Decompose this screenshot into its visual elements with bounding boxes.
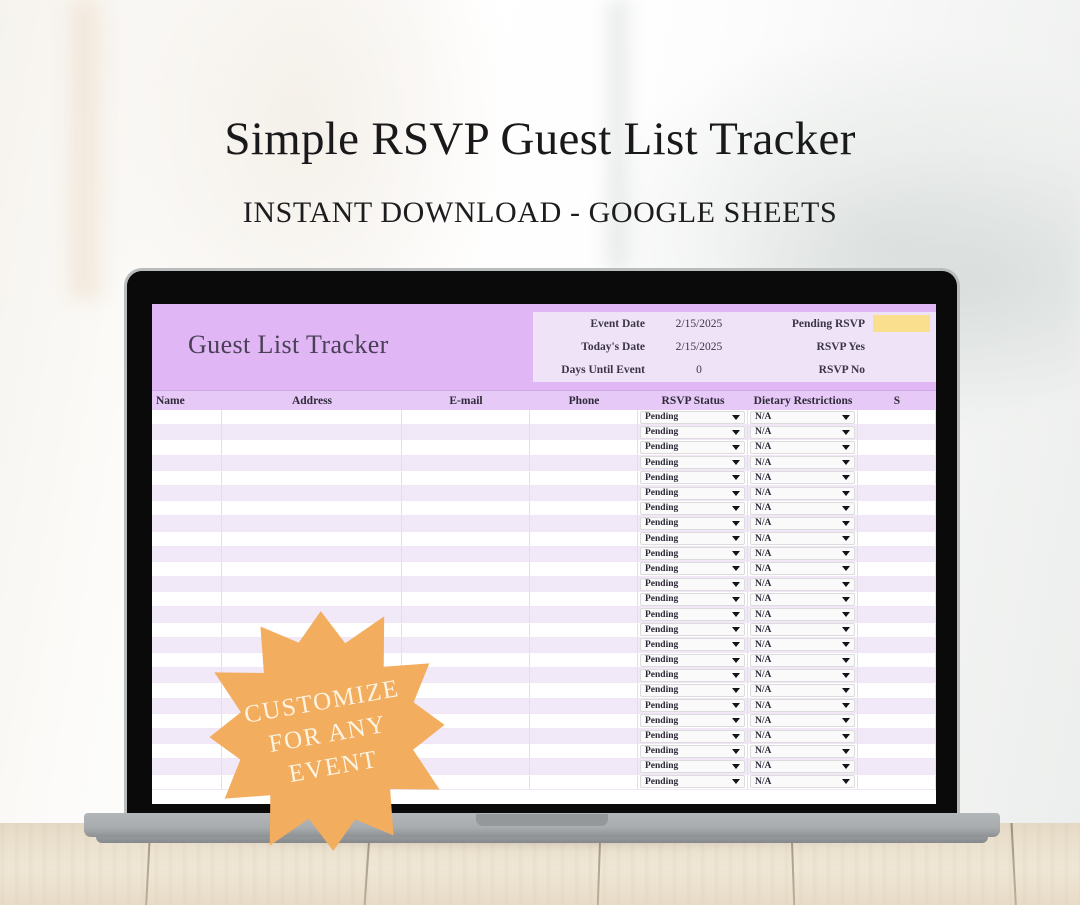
table-row[interactable]: PendingN/A: [152, 501, 936, 516]
cell-extra[interactable]: [858, 744, 936, 758]
cell-rsvp-status[interactable]: Pending: [638, 699, 748, 713]
cell-rsvp-status[interactable]: Pending: [638, 577, 748, 591]
cell-phone[interactable]: [530, 744, 638, 758]
cell-dietary[interactable]: N/A: [748, 577, 858, 591]
column-header-email[interactable]: E-mail: [402, 391, 530, 410]
cell-rsvp-status[interactable]: Pending: [638, 668, 748, 682]
cell-rsvp-status[interactable]: Pending: [638, 653, 748, 667]
pending-rsvp-value[interactable]: [873, 315, 930, 332]
table-row[interactable]: PendingN/A: [152, 592, 936, 607]
cell-extra[interactable]: [858, 471, 936, 485]
dietary-dropdown[interactable]: N/A: [750, 502, 855, 515]
cell-dietary[interactable]: N/A: [748, 744, 858, 758]
cell-address[interactable]: [222, 547, 402, 561]
chevron-down-icon: [732, 764, 740, 769]
chevron-down-icon: [732, 475, 740, 480]
rsvp-status-dropdown[interactable]: Pending: [640, 562, 745, 575]
cell-rsvp-status[interactable]: Pending: [638, 623, 748, 637]
cell-phone[interactable]: [530, 425, 638, 439]
rsvp-status-dropdown-value: Pending: [645, 579, 678, 589]
cell-address[interactable]: [222, 410, 402, 424]
chevron-down-icon: [732, 536, 740, 541]
cell-phone[interactable]: [530, 759, 638, 773]
rsvp-status-dropdown[interactable]: Pending: [640, 426, 745, 439]
todays-date-value[interactable]: 2/15/2025: [651, 341, 747, 353]
cell-dietary[interactable]: N/A: [748, 410, 858, 424]
table-row[interactable]: PendingN/A: [152, 425, 936, 440]
cell-dietary[interactable]: N/A: [748, 547, 858, 561]
chevron-down-icon: [842, 779, 850, 784]
rsvp-status-dropdown[interactable]: Pending: [640, 684, 745, 697]
cell-dietary[interactable]: N/A: [748, 638, 858, 652]
chevron-down-icon: [842, 688, 850, 693]
rsvp-status-dropdown[interactable]: Pending: [640, 517, 745, 530]
chevron-down-icon: [842, 566, 850, 571]
cell-name[interactable]: [152, 516, 222, 530]
dietary-dropdown-value: N/A: [755, 442, 771, 452]
cell-rsvp-status[interactable]: Pending: [638, 775, 748, 789]
chevron-down-icon: [732, 551, 740, 556]
rsvp-status-dropdown-value: Pending: [645, 427, 678, 437]
cell-rsvp-status[interactable]: Pending: [638, 516, 748, 530]
chevron-down-icon: [842, 521, 850, 526]
cell-extra[interactable]: [858, 410, 936, 424]
table-row[interactable]: PendingN/A: [152, 456, 936, 471]
rsvp-status-dropdown[interactable]: Pending: [640, 411, 745, 424]
dietary-dropdown[interactable]: N/A: [750, 684, 855, 697]
dietary-dropdown-value: N/A: [755, 503, 771, 513]
days-until-event-value[interactable]: 0: [651, 364, 747, 376]
dietary-dropdown[interactable]: N/A: [750, 593, 855, 606]
cell-name[interactable]: [152, 562, 222, 576]
pending-rsvp-label: Pending RSVP: [761, 318, 873, 330]
cell-rsvp-status[interactable]: Pending: [638, 440, 748, 454]
rsvp-status-dropdown[interactable]: Pending: [640, 502, 745, 515]
cell-phone[interactable]: [530, 471, 638, 485]
cell-name[interactable]: [152, 425, 222, 439]
table-header-row: Name Address E-mail Phone RSVP Status Di…: [152, 390, 936, 410]
cell-dietary[interactable]: N/A: [748, 653, 858, 667]
rsvp-status-dropdown[interactable]: Pending: [640, 456, 745, 469]
dietary-dropdown[interactable]: N/A: [750, 760, 855, 773]
cell-phone[interactable]: [530, 532, 638, 546]
cell-rsvp-status[interactable]: Pending: [638, 714, 748, 728]
cell-email[interactable]: [402, 440, 530, 454]
cell-email[interactable]: [402, 425, 530, 439]
rsvp-yes-value[interactable]: [873, 338, 930, 355]
table-row[interactable]: PendingN/A: [152, 562, 936, 577]
dietary-dropdown[interactable]: N/A: [750, 730, 855, 743]
table-row[interactable]: PendingN/A: [152, 440, 936, 455]
chevron-down-icon: [842, 597, 850, 602]
chevron-down-icon: [732, 627, 740, 632]
cell-rsvp-status[interactable]: Pending: [638, 592, 748, 606]
rsvp-yes-label: RSVP Yes: [761, 341, 873, 353]
cell-dietary[interactable]: N/A: [748, 471, 858, 485]
rsvp-status-dropdown-value: Pending: [645, 716, 678, 726]
dietary-dropdown[interactable]: N/A: [750, 623, 855, 636]
chevron-down-icon: [732, 703, 740, 708]
cell-extra[interactable]: [858, 714, 936, 728]
cell-dietary[interactable]: N/A: [748, 562, 858, 576]
dietary-dropdown-value: N/A: [755, 701, 771, 711]
cell-dietary[interactable]: N/A: [748, 668, 858, 682]
cell-email[interactable]: [402, 486, 530, 500]
rsvp-status-dropdown[interactable]: Pending: [640, 775, 745, 788]
rsvp-status-dropdown-value: Pending: [645, 518, 678, 528]
cell-extra[interactable]: [858, 623, 936, 637]
chevron-down-icon: [842, 460, 850, 465]
chevron-down-icon: [842, 415, 850, 420]
cell-address[interactable]: [222, 532, 402, 546]
laptop-base-notch: [476, 814, 608, 826]
rsvp-status-dropdown-value: Pending: [645, 761, 678, 771]
cell-name[interactable]: [152, 410, 222, 424]
cell-phone[interactable]: [530, 729, 638, 743]
dietary-dropdown[interactable]: N/A: [750, 775, 855, 788]
dietary-dropdown[interactable]: N/A: [750, 669, 855, 682]
cell-name[interactable]: [152, 714, 222, 728]
cell-dietary[interactable]: N/A: [748, 729, 858, 743]
cell-extra[interactable]: [858, 592, 936, 606]
cell-address[interactable]: [222, 456, 402, 470]
cell-name[interactable]: [152, 775, 222, 789]
cell-extra[interactable]: [858, 532, 936, 546]
spreadsheet-title: Guest List Tracker: [188, 330, 389, 360]
rsvp-status-dropdown-value: Pending: [645, 655, 678, 665]
column-header-dietary-restrictions[interactable]: Dietary Restrictions: [748, 391, 858, 410]
chevron-down-icon: [842, 551, 850, 556]
cell-rsvp-status[interactable]: Pending: [638, 471, 748, 485]
rsvp-status-dropdown[interactable]: Pending: [640, 593, 745, 606]
dietary-dropdown-value: N/A: [755, 610, 771, 620]
cell-rsvp-status[interactable]: Pending: [638, 486, 748, 500]
cell-phone[interactable]: [530, 683, 638, 697]
cell-extra[interactable]: [858, 729, 936, 743]
cell-dietary[interactable]: N/A: [748, 486, 858, 500]
dietary-dropdown-value: N/A: [755, 761, 771, 771]
cell-phone[interactable]: [530, 623, 638, 637]
chevron-down-icon: [732, 582, 740, 587]
rsvp-status-dropdown-value: Pending: [645, 488, 678, 498]
days-until-event-label: Days Until Event: [533, 364, 651, 376]
cell-email[interactable]: [402, 577, 530, 591]
chevron-down-icon: [842, 749, 850, 754]
cell-email[interactable]: [402, 410, 530, 424]
rsvp-status-dropdown[interactable]: Pending: [640, 623, 745, 636]
chevron-down-icon: [732, 521, 740, 526]
cell-phone[interactable]: [530, 714, 638, 728]
column-header-phone[interactable]: Phone: [530, 391, 638, 410]
dietary-dropdown-value: N/A: [755, 777, 771, 787]
rsvp-status-dropdown[interactable]: Pending: [640, 654, 745, 667]
rsvp-status-dropdown[interactable]: Pending: [640, 760, 745, 773]
dietary-dropdown[interactable]: N/A: [750, 547, 855, 560]
cell-rsvp-status[interactable]: Pending: [638, 729, 748, 743]
table-row[interactable]: PendingN/A: [152, 547, 936, 562]
chevron-down-icon: [732, 491, 740, 496]
chevron-down-icon: [842, 582, 850, 587]
cell-name[interactable]: [152, 501, 222, 515]
dietary-dropdown[interactable]: N/A: [750, 441, 855, 454]
cell-extra[interactable]: [858, 683, 936, 697]
cell-dietary[interactable]: N/A: [748, 759, 858, 773]
cell-phone[interactable]: [530, 547, 638, 561]
cell-phone[interactable]: [530, 562, 638, 576]
chevron-down-icon: [732, 445, 740, 450]
dietary-dropdown-value: N/A: [755, 549, 771, 559]
rsvp-status-dropdown[interactable]: Pending: [640, 699, 745, 712]
rsvp-status-dropdown-value: Pending: [645, 564, 678, 574]
customize-badge: CUSTOMIZE FOR ANY EVENT: [212, 600, 443, 861]
rsvp-status-dropdown[interactable]: Pending: [640, 441, 745, 454]
rsvp-status-dropdown[interactable]: Pending: [640, 471, 745, 484]
cell-extra[interactable]: [858, 425, 936, 439]
cell-dietary[interactable]: N/A: [748, 440, 858, 454]
table-row[interactable]: PendingN/A: [152, 486, 936, 501]
rsvp-status-dropdown[interactable]: Pending: [640, 547, 745, 560]
rsvp-status-dropdown-value: Pending: [645, 549, 678, 559]
cell-phone[interactable]: [530, 456, 638, 470]
cell-phone[interactable]: [530, 440, 638, 454]
dietary-dropdown[interactable]: N/A: [750, 562, 855, 575]
chevron-down-icon: [842, 764, 850, 769]
cell-rsvp-status[interactable]: Pending: [638, 607, 748, 621]
page-subtitle: INSTANT DOWNLOAD - GOOGLE SHEETS: [0, 196, 1080, 230]
cell-extra[interactable]: [858, 547, 936, 561]
cell-dietary[interactable]: N/A: [748, 699, 858, 713]
cell-phone[interactable]: [530, 653, 638, 667]
cell-phone[interactable]: [530, 668, 638, 682]
cell-extra[interactable]: [858, 440, 936, 454]
cell-phone[interactable]: [530, 775, 638, 789]
cell-address[interactable]: [222, 440, 402, 454]
cell-phone[interactable]: [530, 638, 638, 652]
rsvp-status-dropdown-value: Pending: [645, 594, 678, 604]
chevron-down-icon: [732, 460, 740, 465]
event-info-panel: Event Date 2/15/2025 Pending RSVP Today'…: [533, 312, 936, 382]
cell-email[interactable]: [402, 501, 530, 515]
chevron-down-icon: [732, 673, 740, 678]
cell-dietary[interactable]: N/A: [748, 456, 858, 470]
table-row[interactable]: PendingN/A: [152, 516, 936, 531]
dietary-dropdown-value: N/A: [755, 685, 771, 695]
cell-extra[interactable]: [858, 501, 936, 515]
rsvp-status-dropdown-value: Pending: [645, 442, 678, 452]
dietary-dropdown[interactable]: N/A: [750, 699, 855, 712]
dietary-dropdown[interactable]: N/A: [750, 487, 855, 500]
dietary-dropdown[interactable]: N/A: [750, 411, 855, 424]
cell-dietary[interactable]: N/A: [748, 516, 858, 530]
cell-name[interactable]: [152, 471, 222, 485]
cell-extra[interactable]: [858, 456, 936, 470]
rsvp-status-dropdown-value: Pending: [645, 746, 678, 756]
chevron-down-icon: [842, 475, 850, 480]
dietary-dropdown-value: N/A: [755, 746, 771, 756]
cell-rsvp-status[interactable]: Pending: [638, 532, 748, 546]
table-row[interactable]: PendingN/A: [152, 577, 936, 592]
column-header-rsvp-status[interactable]: RSVP Status: [638, 391, 748, 410]
cell-dietary[interactable]: N/A: [748, 714, 858, 728]
chevron-down-icon: [842, 536, 850, 541]
cell-dietary[interactable]: N/A: [748, 425, 858, 439]
customize-badge-text: CUSTOMIZE FOR ANY EVENT: [198, 589, 456, 873]
cell-extra[interactable]: [858, 516, 936, 530]
dietary-dropdown-value: N/A: [755, 458, 771, 468]
cell-dietary[interactable]: N/A: [748, 592, 858, 606]
dietary-dropdown[interactable]: N/A: [750, 426, 855, 439]
cell-name[interactable]: [152, 456, 222, 470]
rsvp-status-dropdown[interactable]: Pending: [640, 608, 745, 621]
rsvp-status-dropdown[interactable]: Pending: [640, 745, 745, 758]
cell-address[interactable]: [222, 486, 402, 500]
rsvp-status-dropdown-value: Pending: [645, 731, 678, 741]
todays-date-label: Today's Date: [533, 341, 651, 353]
cell-address[interactable]: [222, 562, 402, 576]
chevron-down-icon: [732, 430, 740, 435]
cell-dietary[interactable]: N/A: [748, 532, 858, 546]
table-row[interactable]: PendingN/A: [152, 471, 936, 486]
cell-phone[interactable]: [530, 516, 638, 530]
chevron-down-icon: [842, 506, 850, 511]
cell-extra[interactable]: [858, 653, 936, 667]
dietary-dropdown[interactable]: N/A: [750, 714, 855, 727]
cell-phone[interactable]: [530, 577, 638, 591]
cell-extra[interactable]: [858, 759, 936, 773]
rsvp-status-dropdown-value: Pending: [645, 534, 678, 544]
cell-extra[interactable]: [858, 775, 936, 789]
cell-rsvp-status[interactable]: Pending: [638, 562, 748, 576]
cell-dietary[interactable]: N/A: [748, 775, 858, 789]
dietary-dropdown[interactable]: N/A: [750, 471, 855, 484]
cell-rsvp-status[interactable]: Pending: [638, 425, 748, 439]
dietary-dropdown-value: N/A: [755, 670, 771, 680]
chevron-down-icon: [732, 415, 740, 420]
dietary-dropdown[interactable]: N/A: [750, 608, 855, 621]
rsvp-status-dropdown[interactable]: Pending: [640, 487, 745, 500]
dietary-dropdown[interactable]: N/A: [750, 517, 855, 530]
chevron-down-icon: [842, 658, 850, 663]
dietary-dropdown-value: N/A: [755, 716, 771, 726]
cell-email[interactable]: [402, 562, 530, 576]
dietary-dropdown[interactable]: N/A: [750, 578, 855, 591]
cell-email[interactable]: [402, 516, 530, 530]
event-date-value[interactable]: 2/15/2025: [651, 318, 747, 330]
rsvp-status-dropdown-value: Pending: [645, 670, 678, 680]
cell-phone[interactable]: [530, 486, 638, 500]
chevron-down-icon: [732, 779, 740, 784]
chevron-down-icon: [732, 658, 740, 663]
rsvp-status-dropdown[interactable]: Pending: [640, 714, 745, 727]
dietary-dropdown-value: N/A: [755, 731, 771, 741]
cell-name[interactable]: [152, 759, 222, 773]
cell-email[interactable]: [402, 471, 530, 485]
column-header-name[interactable]: Name: [152, 391, 222, 410]
dietary-dropdown[interactable]: N/A: [750, 532, 855, 545]
cell-phone[interactable]: [530, 592, 638, 606]
cell-phone[interactable]: [530, 501, 638, 515]
cell-rsvp-status[interactable]: Pending: [638, 638, 748, 652]
chevron-down-icon: [842, 491, 850, 496]
cell-name[interactable]: [152, 592, 222, 606]
rsvp-status-dropdown-value: Pending: [645, 503, 678, 513]
cell-dietary[interactable]: N/A: [748, 683, 858, 697]
cell-phone[interactable]: [530, 699, 638, 713]
cell-phone[interactable]: [530, 410, 638, 424]
cell-rsvp-status[interactable]: Pending: [638, 759, 748, 773]
rsvp-status-dropdown[interactable]: Pending: [640, 532, 745, 545]
cell-name[interactable]: [152, 486, 222, 500]
rsvp-status-dropdown[interactable]: Pending: [640, 638, 745, 651]
cell-extra[interactable]: [858, 562, 936, 576]
cell-address[interactable]: [222, 425, 402, 439]
cell-address[interactable]: [222, 577, 402, 591]
rsvp-status-dropdown-value: Pending: [645, 458, 678, 468]
cell-email[interactable]: [402, 532, 530, 546]
cell-name[interactable]: [152, 440, 222, 454]
chevron-down-icon: [732, 642, 740, 647]
rsvp-status-dropdown[interactable]: Pending: [640, 730, 745, 743]
dietary-dropdown[interactable]: N/A: [750, 456, 855, 469]
chevron-down-icon: [842, 718, 850, 723]
rsvp-status-dropdown[interactable]: Pending: [640, 669, 745, 682]
column-header-extra[interactable]: S: [858, 391, 936, 410]
cell-name[interactable]: [152, 547, 222, 561]
cell-extra[interactable]: [858, 638, 936, 652]
cell-extra[interactable]: [858, 486, 936, 500]
cell-rsvp-status[interactable]: Pending: [638, 547, 748, 561]
cell-dietary[interactable]: N/A: [748, 607, 858, 621]
rsvp-no-value[interactable]: [873, 362, 930, 379]
cell-extra[interactable]: [858, 607, 936, 621]
cell-name[interactable]: [152, 744, 222, 758]
table-row[interactable]: PendingN/A: [152, 410, 936, 425]
rsvp-status-dropdown-value: Pending: [645, 701, 678, 711]
cell-email[interactable]: [402, 456, 530, 470]
cell-extra[interactable]: [858, 577, 936, 591]
cell-dietary[interactable]: N/A: [748, 501, 858, 515]
cell-dietary[interactable]: N/A: [748, 623, 858, 637]
cell-rsvp-status[interactable]: Pending: [638, 456, 748, 470]
cell-address[interactable]: [222, 471, 402, 485]
dietary-dropdown-value: N/A: [755, 640, 771, 650]
chevron-down-icon: [732, 566, 740, 571]
rsvp-status-dropdown-value: Pending: [645, 610, 678, 620]
rsvp-no-label: RSVP No: [761, 364, 873, 376]
cell-email[interactable]: [402, 547, 530, 561]
cell-address[interactable]: [222, 501, 402, 515]
dietary-dropdown-value: N/A: [755, 488, 771, 498]
cell-name[interactable]: [152, 577, 222, 591]
dietary-dropdown[interactable]: N/A: [750, 638, 855, 651]
cell-rsvp-status[interactable]: Pending: [638, 744, 748, 758]
cell-rsvp-status[interactable]: Pending: [638, 683, 748, 697]
cell-rsvp-status[interactable]: Pending: [638, 410, 748, 424]
cell-extra[interactable]: [858, 668, 936, 682]
cell-phone[interactable]: [530, 607, 638, 621]
cell-address[interactable]: [222, 516, 402, 530]
cell-rsvp-status[interactable]: Pending: [638, 501, 748, 515]
dietary-dropdown[interactable]: N/A: [750, 745, 855, 758]
chevron-down-icon: [842, 445, 850, 450]
dietary-dropdown[interactable]: N/A: [750, 654, 855, 667]
chevron-down-icon: [842, 703, 850, 708]
rsvp-status-dropdown[interactable]: Pending: [640, 578, 745, 591]
cell-name[interactable]: [152, 532, 222, 546]
table-row[interactable]: PendingN/A: [152, 532, 936, 547]
cell-extra[interactable]: [858, 699, 936, 713]
column-header-address[interactable]: Address: [222, 391, 402, 410]
